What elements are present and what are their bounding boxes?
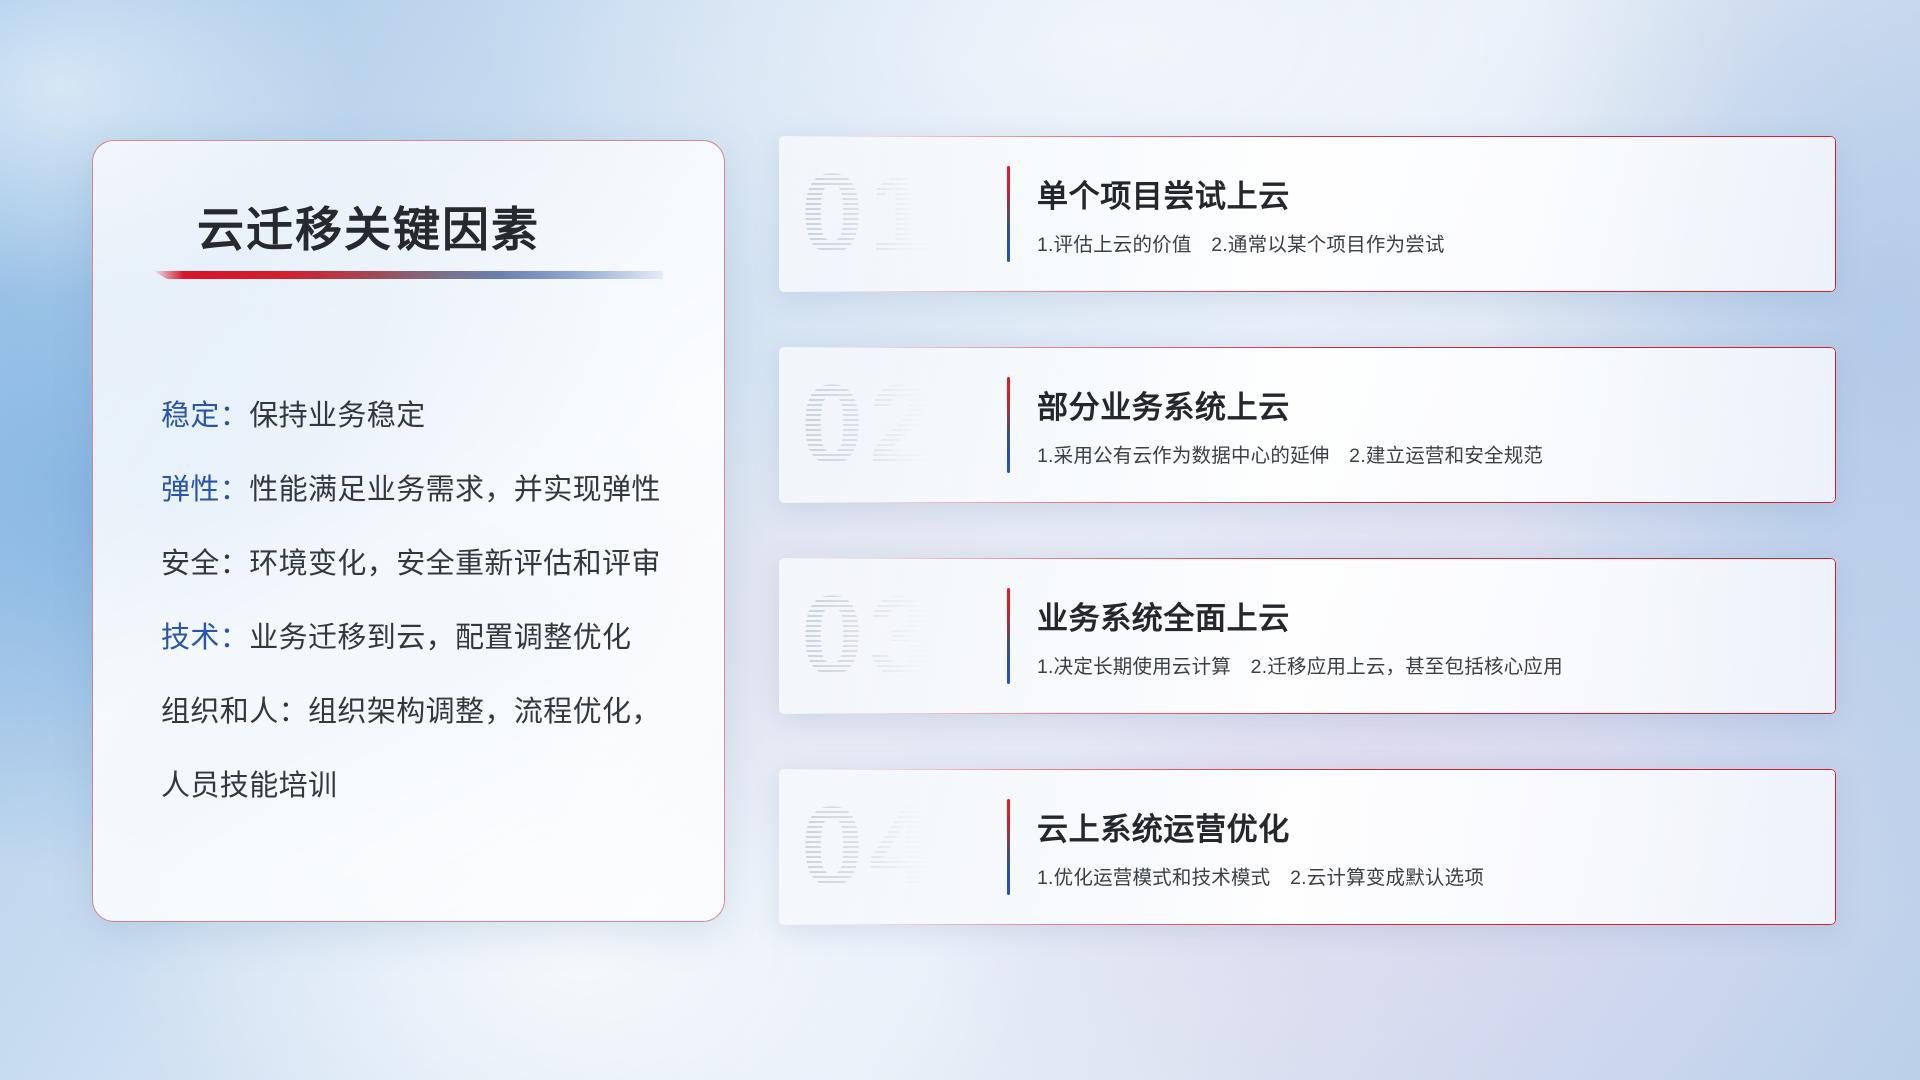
factor-item: 安全：环境变化，安全重新评估和评审	[161, 527, 694, 601]
stage-subtitle: 1.采用公有云作为数据中心的延伸 2.建立运营和安全规范	[1037, 439, 1820, 468]
slide-stage: 云迁移关键因素 稳定：保持业务稳定 弹性：性能满足业务需求，并实现弹性 安全：环…	[0, 0, 1920, 1080]
factor-item: 弹性：性能满足业务需求，并实现弹性	[161, 453, 694, 527]
factor-label: 安全：	[161, 548, 249, 580]
stage-title: 云上系统运营优化	[1037, 804, 1820, 849]
stage-accent-bar	[1007, 377, 1010, 473]
factor-text: 环境变化，安全重新评估和评审	[249, 548, 661, 580]
key-factors-panel: 云迁移关键因素 稳定：保持业务稳定 弹性：性能满足业务需求，并实现弹性 安全：环…	[92, 140, 725, 922]
stage-title: 业务系统全面上云	[1037, 593, 1820, 638]
factor-item: 组织和人：组织架构调整，流程优化，	[161, 675, 694, 749]
stage-card-body: 部分业务系统上云 1.采用公有云作为数据中心的延伸 2.建立运营和安全规范	[1037, 347, 1820, 503]
factor-label: 稳定：	[161, 400, 249, 432]
factor-item: 稳定：保持业务稳定	[161, 379, 694, 453]
stage-card-body: 业务系统全面上云 1.决定长期使用云计算 2.迁移应用上云，甚至包括核心应用	[1037, 558, 1820, 714]
stage-number-watermark: 02	[801, 369, 938, 481]
stage-card[interactable]: 04 云上系统运营优化 1.优化运营模式和技术模式 2.云计算变成默认选项	[779, 769, 1836, 925]
stage-number-watermark: 04	[801, 791, 938, 903]
stage-subtitle: 1.评估上云的价值 2.通常以某个项目作为尝试	[1037, 228, 1820, 257]
factor-text: 保持业务稳定	[249, 400, 425, 432]
factor-text: 组织架构调整，流程优化，	[308, 696, 661, 728]
key-factors-list: 稳定：保持业务稳定 弹性：性能满足业务需求，并实现弹性 安全：环境变化，安全重新…	[161, 379, 694, 823]
stage-accent-bar	[1007, 166, 1010, 262]
stage-accent-bar	[1007, 588, 1010, 684]
stage-subtitle: 1.优化运营模式和技术模式 2.云计算变成默认选项	[1037, 861, 1820, 890]
stage-number-watermark: 01	[801, 158, 938, 270]
stage-card[interactable]: 02 部分业务系统上云 1.采用公有云作为数据中心的延伸 2.建立运营和安全规范	[779, 347, 1836, 503]
stage-number-watermark: 03	[801, 580, 938, 692]
title-underline-gradient	[153, 271, 663, 279]
factor-text: 性能满足业务需求，并实现弹性	[249, 474, 661, 506]
factor-text: 人员技能培训	[161, 770, 337, 802]
stage-card[interactable]: 01 单个项目尝试上云 1.评估上云的价值 2.通常以某个项目作为尝试	[779, 136, 1836, 292]
factor-label: 组织和人：	[161, 696, 308, 728]
stage-title: 单个项目尝试上云	[1037, 171, 1820, 216]
factor-label: 弹性：	[161, 474, 249, 506]
page-title: 云迁移关键因素	[197, 191, 540, 260]
stage-subtitle: 1.决定长期使用云计算 2.迁移应用上云，甚至包括核心应用	[1037, 650, 1820, 679]
stage-card-body: 云上系统运营优化 1.优化运营模式和技术模式 2.云计算变成默认选项	[1037, 769, 1820, 925]
stage-title: 部分业务系统上云	[1037, 382, 1820, 427]
factor-item-continuation: 人员技能培训	[161, 749, 694, 823]
stage-card[interactable]: 03 业务系统全面上云 1.决定长期使用云计算 2.迁移应用上云，甚至包括核心应…	[779, 558, 1836, 714]
stage-accent-bar	[1007, 799, 1010, 895]
factor-text: 业务迁移到云，配置调整优化	[249, 622, 631, 654]
factor-item: 技术：业务迁移到云，配置调整优化	[161, 601, 694, 675]
factor-label: 技术：	[161, 622, 249, 654]
stage-card-body: 单个项目尝试上云 1.评估上云的价值 2.通常以某个项目作为尝试	[1037, 136, 1820, 292]
